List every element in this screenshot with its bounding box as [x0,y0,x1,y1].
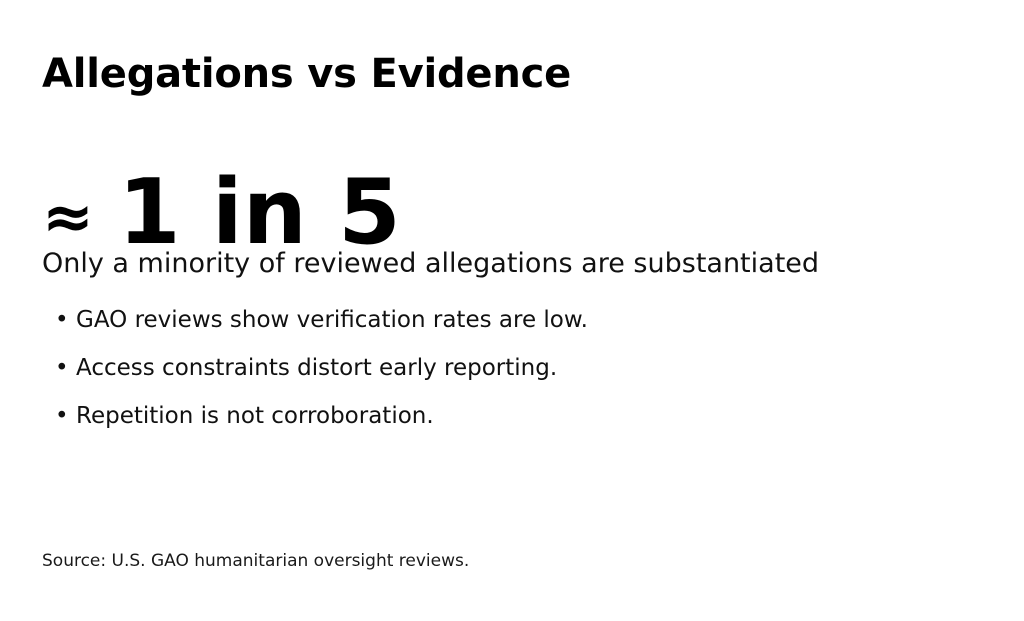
bullet-dot-icon: • [55,399,69,433]
list-item: • GAO reviews show verification rates ar… [55,303,588,337]
list-item-label: GAO reviews show verification rates are … [76,307,588,333]
bullet-dot-icon: • [55,351,69,385]
list-item-label: Access constraints distort early reporti… [76,355,557,381]
list-item: • Repetition is not corroboration. [55,399,588,433]
statistic-callout: ≈ 1 in 5 [42,168,401,258]
statistic-value: 1 in 5 [118,168,401,258]
list-item-label: Repetition is not corroboration. [76,403,434,429]
bullet-list: • GAO reviews show verification rates ar… [55,303,588,433]
subtitle: Only a minority of reviewed allegations … [42,247,819,281]
presentation-slide: Allegations vs Evidence ≈ 1 in 5 Only a … [0,0,1024,621]
page-title: Allegations vs Evidence [42,50,571,98]
approximately-symbol: ≈ [42,186,94,248]
list-item: • Access constraints distort early repor… [55,351,588,385]
source-citation: Source: U.S. GAO humanitarian oversight … [42,550,469,572]
bullet-dot-icon: • [55,303,69,337]
